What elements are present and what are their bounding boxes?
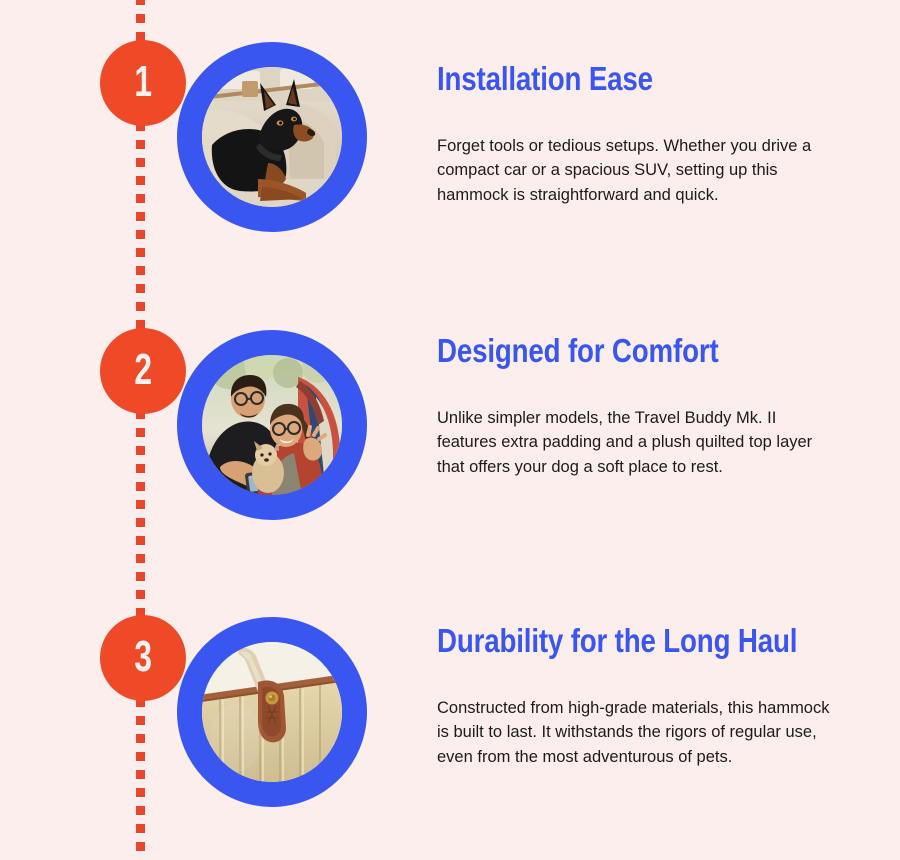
feature-heading: Designed for Comfort [437,333,773,369]
feature-text-block: Installation Ease Forget tools or tediou… [437,61,837,208]
feature-text-block: Durability for the Long Haul Constructed… [437,623,837,770]
feature-row: 2 [0,303,900,553]
photo-clip [202,355,342,495]
feature-body: Forget tools or tedious setups. Whether … [437,134,832,208]
feature-row: 1 [0,15,900,265]
step-badge-1: 1 [100,40,186,126]
quilted-fabric-buckle-illustration [202,642,342,782]
step-badge-3: 3 [100,615,186,701]
feature-photo-1 [177,42,367,232]
step-number-label: 2 [134,348,152,395]
feature-row: 3 [0,590,900,840]
photo-clip [202,67,342,207]
features-infographic: 1 [0,0,900,860]
timeline-dotted-line [136,0,145,860]
photo-clip [202,642,342,782]
feature-body: Unlike simpler models, the Travel Buddy … [437,406,832,480]
feature-heading: Durability for the Long Haul [437,623,773,659]
couple-selfie-illustration [202,355,342,495]
dog-in-car-illustration [202,67,342,207]
feature-text-block: Designed for Comfort Unlike simpler mode… [437,333,837,480]
feature-body: Constructed from high-grade materials, t… [437,696,832,770]
step-number-label: 1 [134,60,152,107]
step-badge-2: 2 [100,328,186,414]
feature-photo-3 [177,617,367,807]
feature-heading: Installation Ease [437,61,773,97]
feature-photo-2 [177,330,367,520]
step-number-label: 3 [134,635,152,682]
